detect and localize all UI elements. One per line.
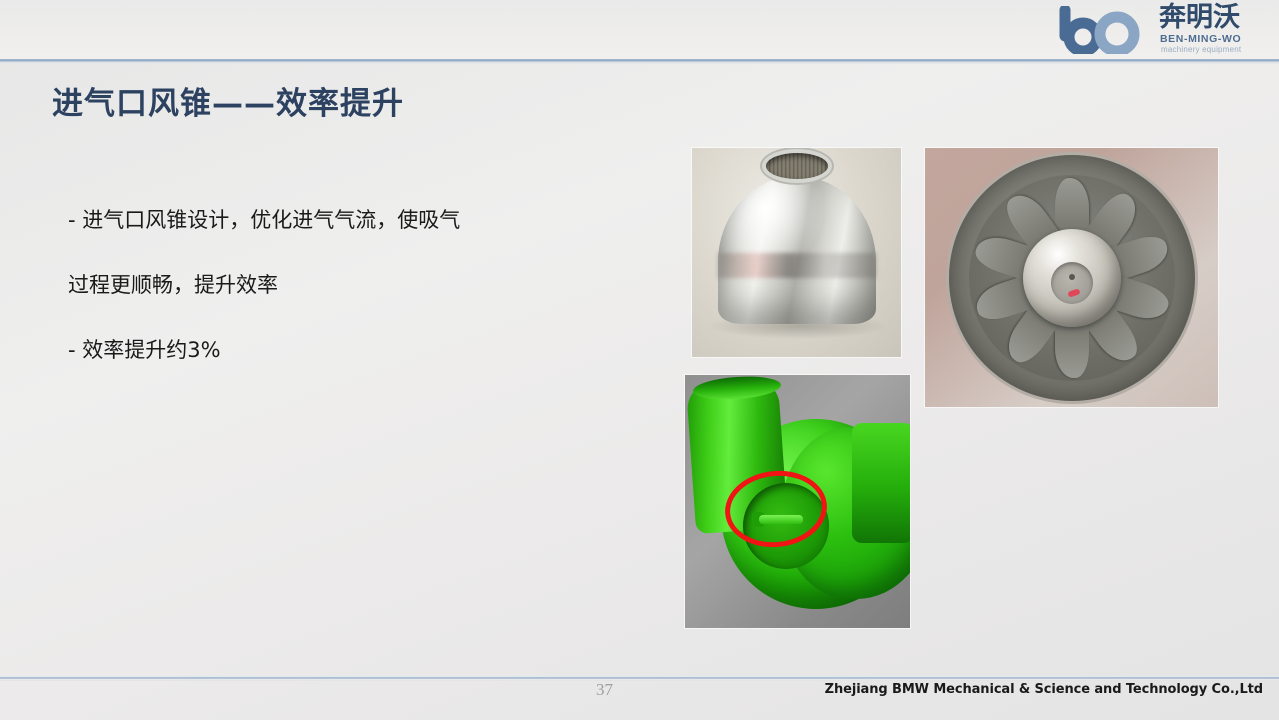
page-number: 37 <box>596 680 613 700</box>
slide: 奔明沃 BEN-MING-WO machinery equipment 进气口风… <box>0 0 1279 720</box>
logo-chinese-name: 奔明沃 <box>1159 3 1240 33</box>
logo-english-name: BEN-MING-WO <box>1160 33 1241 45</box>
cone-body <box>718 176 876 324</box>
cone-reflection-band <box>718 253 876 278</box>
logo-wordmark: 奔明沃 BEN-MING-WO machinery equipment <box>1159 3 1271 57</box>
logo-tagline: machinery equipment <box>1161 45 1241 55</box>
bullet-line: 过程更顺畅，提升效率 <box>68 253 628 318</box>
impeller-hub-marker <box>1067 288 1080 297</box>
header-accent-rule-shadow <box>0 62 1279 64</box>
page-title: 进气口风锥——效率提升 <box>52 78 404 123</box>
bullet-list: - 进气口风锥设计，优化进气气流，使吸气 过程更顺畅，提升效率 - 效率提升约3… <box>68 188 628 383</box>
impeller-hub-cap <box>1051 262 1093 304</box>
bullet-line: - 进气口风锥设计，优化进气气流，使吸气 <box>68 188 628 253</box>
impeller-hub-bolt <box>1069 274 1075 280</box>
inlet-cone-photo <box>692 148 901 357</box>
bo-monogram-icon <box>1055 6 1159 54</box>
bullet-line: - 效率提升约3% <box>68 318 628 383</box>
footer-company-name: Zhejiang BMW Mechanical & Science and Te… <box>825 682 1263 697</box>
cone-threaded-hole <box>766 153 828 179</box>
impeller-photo <box>925 148 1218 407</box>
company-logo: 奔明沃 BEN-MING-WO machinery equipment <box>1055 2 1271 58</box>
footer-accent-rule-shadow <box>0 679 1279 681</box>
impeller-cone-hub <box>1023 229 1121 327</box>
cad-outlet-duct <box>852 423 910 543</box>
cad-render <box>685 375 910 628</box>
